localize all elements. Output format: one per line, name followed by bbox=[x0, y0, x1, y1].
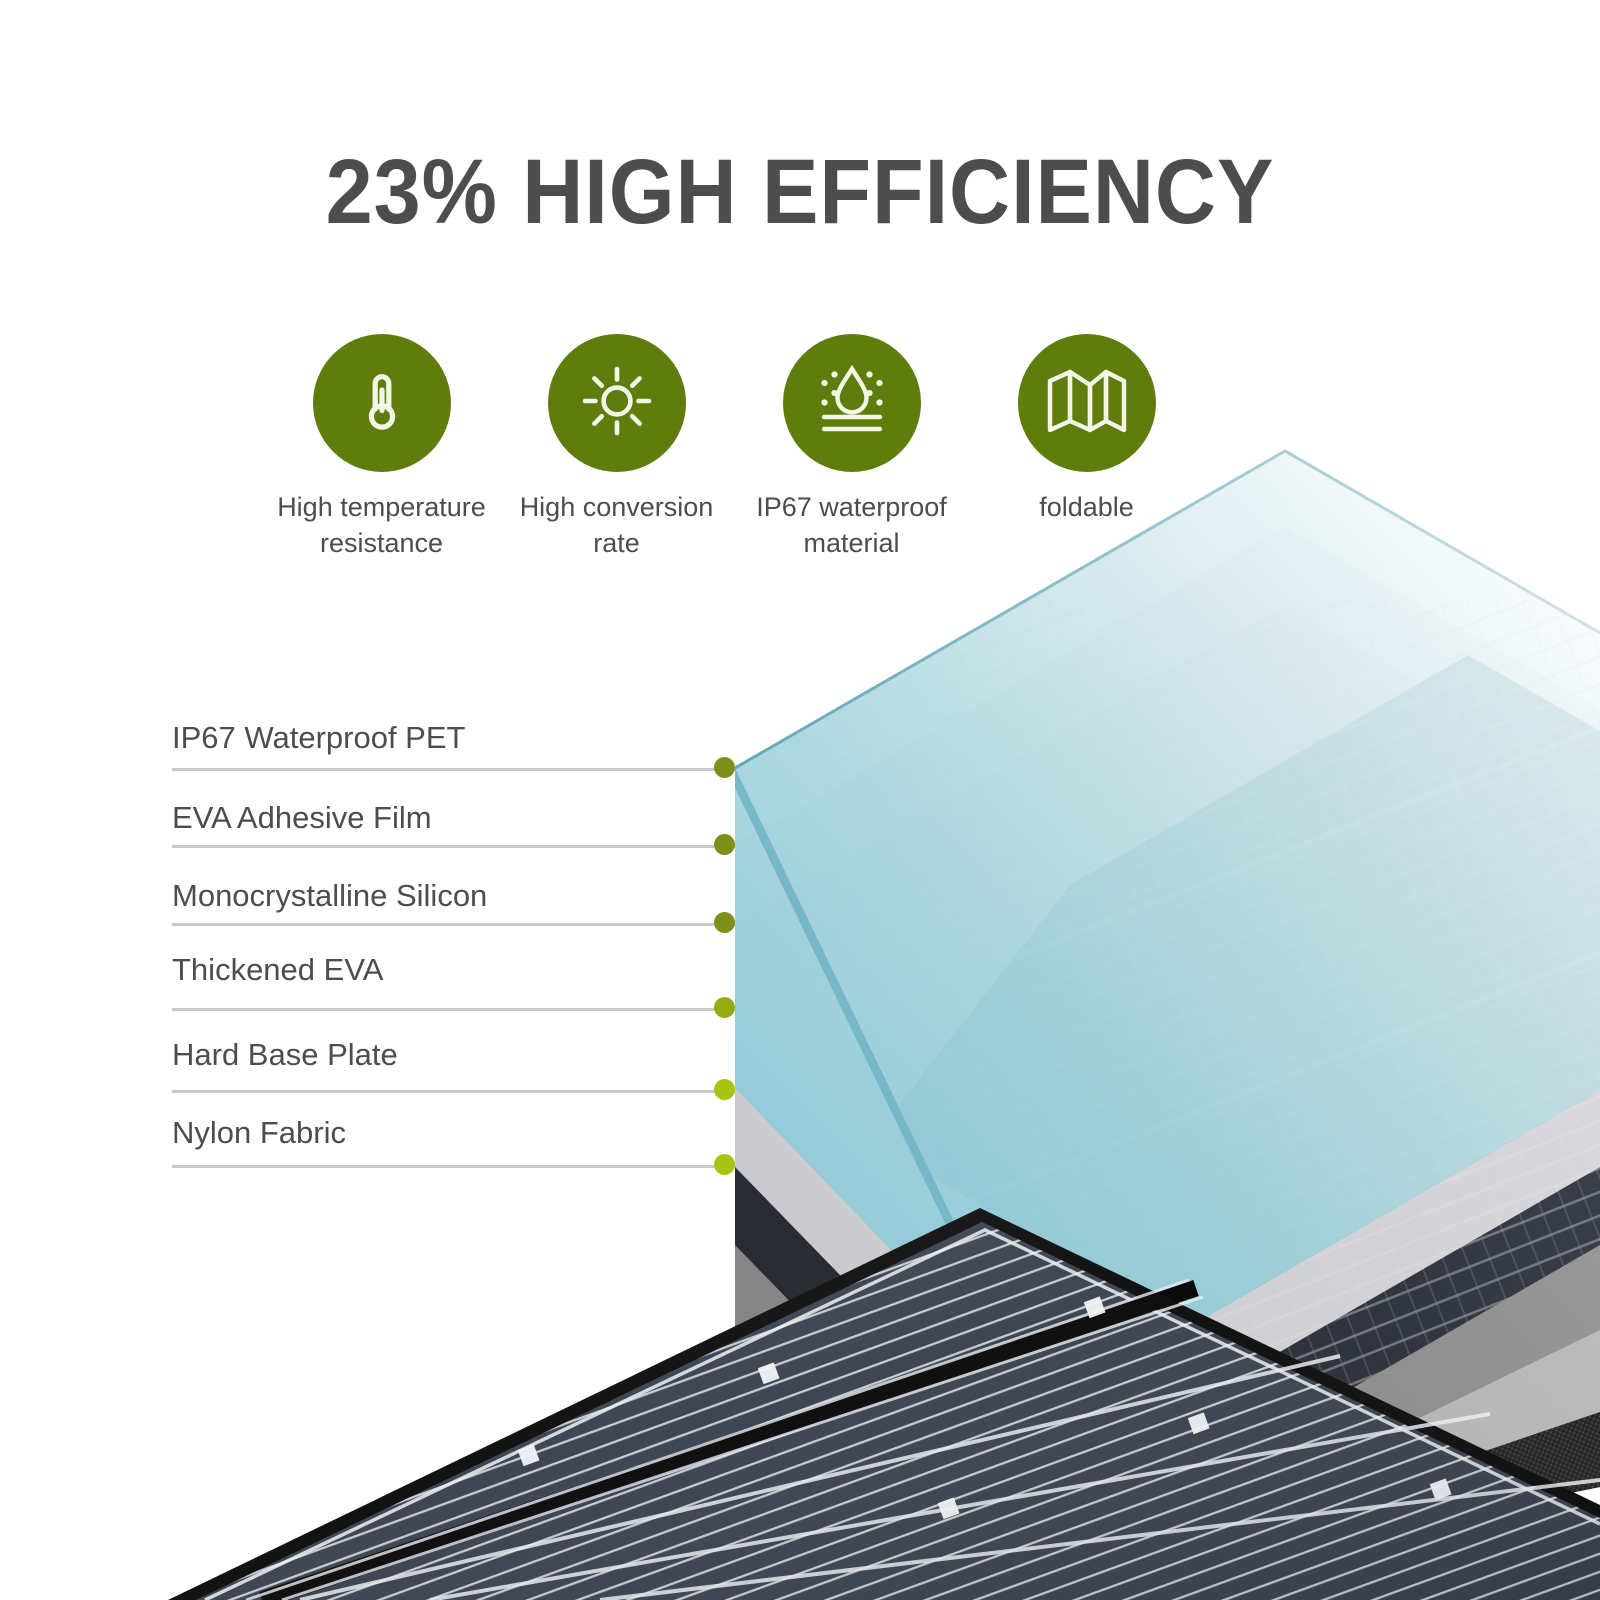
leader-line-eva-adhesive-film bbox=[172, 845, 735, 848]
feature-item-ip67-waterproof: IP67 waterproof material bbox=[734, 334, 969, 562]
page-title: 23% HIGH EFFICIENCY bbox=[64, 140, 1536, 245]
folded-solar-panel-photo bbox=[168, 1208, 1600, 1600]
layer-shape-nylon-fabric bbox=[700, 820, 1600, 1600]
leader-dot-ip67-waterproof-pet bbox=[714, 757, 735, 778]
leader-dot-nylon-fabric bbox=[714, 1154, 735, 1175]
feature-label: High temperature resistance bbox=[269, 489, 494, 562]
layer-label-monocrystalline-silicon: Monocrystalline Silicon bbox=[172, 878, 487, 914]
layer-label-eva-adhesive-film: EVA Adhesive Film bbox=[172, 800, 432, 836]
leader-line-hard-base-plate bbox=[172, 1090, 735, 1093]
infographic-page: 23% HIGH EFFICIENCY High temperature res… bbox=[0, 0, 1600, 1600]
leader-dot-thickened-eva bbox=[714, 997, 735, 1018]
folded-map-icon bbox=[1046, 367, 1128, 440]
feature-item-high-conversion: High conversion rate bbox=[499, 334, 734, 562]
layer-shape-thickened-eva bbox=[735, 691, 1600, 1600]
layer-label-hard-base-plate: Hard Base Plate bbox=[172, 1037, 398, 1073]
feature-list: High temperature resistance bbox=[264, 334, 1204, 564]
leader-line-monocrystalline-silicon bbox=[172, 923, 735, 926]
feature-circle bbox=[783, 334, 921, 472]
leader-dot-hard-base-plate bbox=[714, 1079, 735, 1100]
leader-dot-monocrystalline-silicon bbox=[714, 912, 735, 933]
layer-label-nylon-fabric: Nylon Fabric bbox=[172, 1115, 346, 1151]
layer-shape-ip67-waterproof-pet bbox=[735, 451, 1600, 1430]
leader-line-ip67-waterproof-pet bbox=[172, 768, 735, 771]
layer-shape-eva-adhesive-film bbox=[735, 528, 1600, 1487]
feature-circle bbox=[313, 334, 451, 472]
leader-dot-eva-adhesive-film bbox=[714, 834, 735, 855]
feature-item-foldable: foldable bbox=[969, 334, 1204, 525]
layer-label-ip67-waterproof-pet: IP67 Waterproof PET bbox=[172, 720, 465, 756]
feature-circle bbox=[1018, 334, 1156, 472]
feature-label: IP67 waterproof material bbox=[739, 489, 964, 562]
layer-label-thickened-eva: Thickened EVA bbox=[172, 952, 383, 988]
layer-shape-monocrystalline-silicon bbox=[700, 540, 1600, 1580]
feature-label: High conversion rate bbox=[504, 489, 729, 562]
feature-item-high-temperature: High temperature resistance bbox=[264, 334, 499, 562]
waterproof-droplet-icon bbox=[810, 361, 894, 446]
leader-line-nylon-fabric bbox=[172, 1165, 735, 1168]
sun-icon bbox=[578, 362, 656, 445]
thermometer-icon bbox=[345, 364, 419, 443]
layer-shape-hard-base-plate bbox=[735, 773, 1600, 1600]
feature-label: foldable bbox=[1039, 489, 1134, 525]
feature-circle bbox=[548, 334, 686, 472]
leader-line-thickened-eva bbox=[172, 1008, 735, 1011]
